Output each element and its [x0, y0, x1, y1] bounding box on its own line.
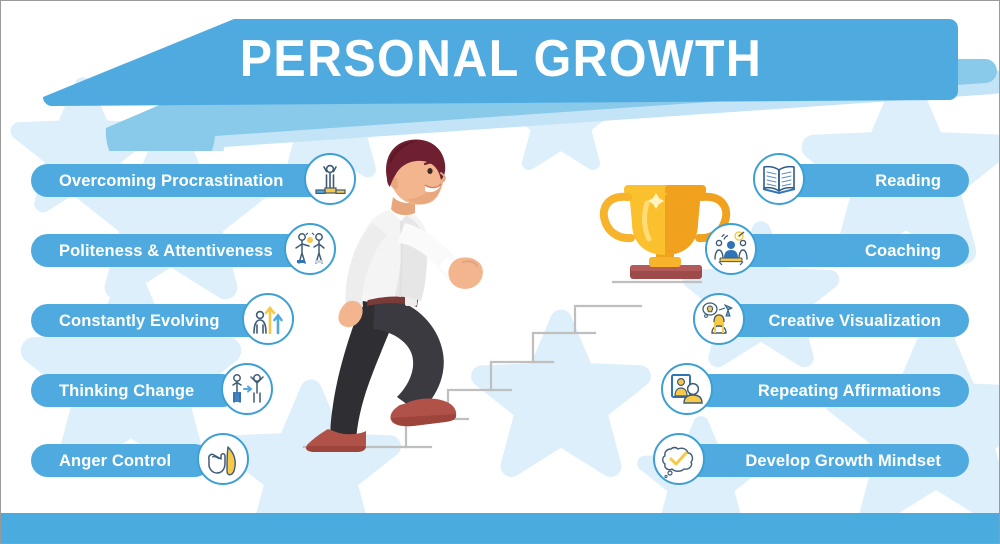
page-title: PERSONAL GROWTH [36, 31, 966, 87]
two-people-greeting-icon [284, 223, 336, 275]
stairs-graphic [304, 282, 701, 447]
pill-label: Constantly Evolving [59, 312, 220, 330]
mirror-person-icon [661, 363, 713, 415]
pill-label: Coaching [865, 242, 941, 260]
pill-label: Reading [875, 172, 941, 190]
pill-label: Overcoming Procrastination [59, 172, 284, 190]
item-constantly-evolving[interactable]: Constantly Evolving [31, 304, 266, 337]
item-anger-control[interactable]: Anger Control [31, 444, 211, 477]
person-transformation-icon [221, 363, 273, 415]
pill-label: Creative Visualization [769, 312, 941, 330]
thought-cloud-check-icon [653, 433, 705, 485]
pill-label: Repeating Affirmations [758, 382, 941, 400]
item-develop-growth-mindset[interactable]: Develop Growth Mindset [661, 444, 969, 477]
pill-label: Anger Control [59, 452, 171, 470]
title-banner: PERSONAL GROWTH [1, 1, 1000, 141]
pill-label: Thinking Change [59, 382, 194, 400]
item-overcoming-procrastination[interactable]: Overcoming Procrastination [31, 164, 331, 197]
calming-hand-icon [197, 433, 249, 485]
pill-label: Politeness & Attentiveness [59, 242, 273, 260]
coach-target-icon [705, 223, 757, 275]
footer-bar [1, 513, 999, 543]
pill-label: Develop Growth Mindset [745, 452, 941, 470]
person-idea-bulb-icon [693, 293, 745, 345]
infographic-canvas: PERSONAL GROWTH [0, 0, 1000, 544]
person-growth-arrows-icon [242, 293, 294, 345]
trophy-graphic [604, 185, 726, 279]
item-politeness-attentiveness[interactable]: Politeness & Attentiveness [31, 234, 308, 267]
item-thinking-change[interactable]: Thinking Change [31, 374, 239, 407]
podium-winner-icon [304, 153, 356, 205]
open-book-icon [753, 153, 805, 205]
item-repeating-affirmations[interactable]: Repeating Affirmations [693, 374, 969, 407]
